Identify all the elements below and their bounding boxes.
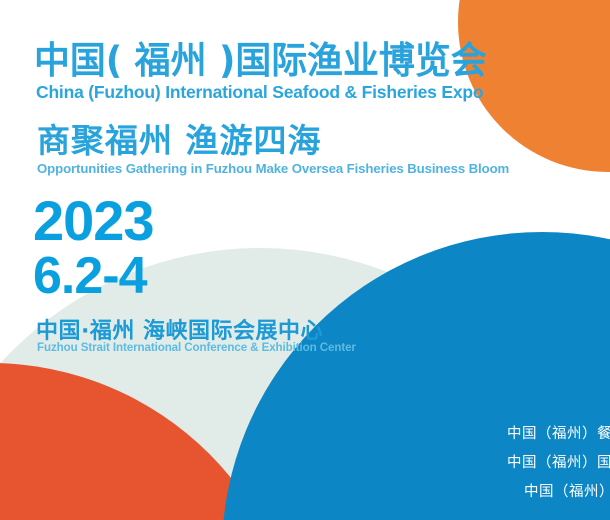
venue-name-english: Fuzhou Strait International Conference &… — [37, 341, 356, 354]
expo-dates: 6.2-4 — [33, 250, 147, 302]
poster-content: 中国( 福州 )国际渔业博览会 China (Fuzhou) Internati… — [0, 0, 610, 520]
expo-year: 2023 — [33, 193, 154, 249]
expo-title-english: China (Fuzhou) International Seafood & F… — [36, 82, 483, 103]
expo-slogan-chinese: 商聚福州 渔游四海 — [37, 114, 322, 162]
concurrent-expo-item: 中国（福州）国际 — [270, 478, 610, 507]
concurrent-expo-item: 中国（福州）国际食品包装及 — [270, 449, 610, 478]
expo-slogan-english: Opportunities Gathering in Fuzhou Make O… — [37, 161, 509, 176]
concurrent-expo-list: 中国（福州）餐饮食材展暨预 中国（福州）国际食品包装及 中国（福州）国际 — [270, 420, 610, 507]
concurrent-expo-item: 中国（福州）餐饮食材展暨预 — [270, 420, 610, 449]
expo-poster: 中国( 福州 )国际渔业博览会 China (Fuzhou) Internati… — [0, 0, 610, 520]
expo-title-chinese: 中国( 福州 )国际渔业博览会 — [34, 30, 487, 84]
